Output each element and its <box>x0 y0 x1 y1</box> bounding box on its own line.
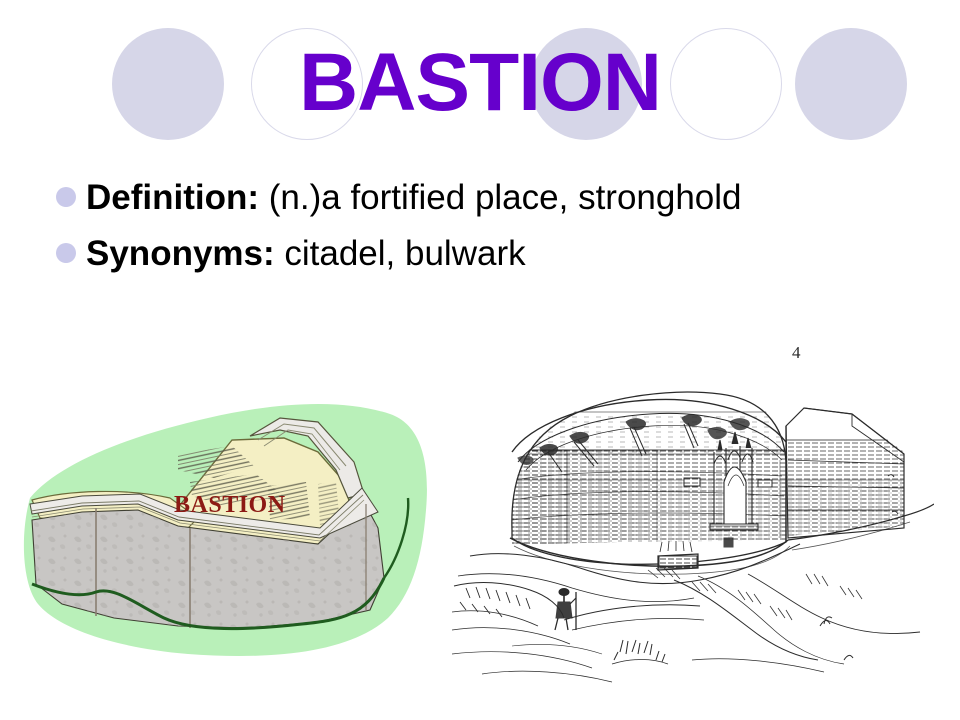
bullet-dot-icon <box>56 187 76 207</box>
bastion-wall-diagram-image: BASTION <box>18 378 438 660</box>
bullet-list: Definition: (n.)a fortified place, stron… <box>56 176 936 288</box>
diagram-caption: BASTION <box>174 492 286 518</box>
list-item-rest: citadel, bulwark <box>275 234 526 273</box>
list-item: Synonyms: citadel, bulwark <box>56 232 936 276</box>
list-item-lead: Definition: <box>86 178 259 217</box>
list-item-text: Synonyms: citadel, bulwark <box>86 232 526 276</box>
bullet-dot-icon <box>56 243 76 263</box>
list-item: Definition: (n.)a fortified place, stron… <box>56 176 936 220</box>
martello-tower-engraving-image: 4 <box>452 330 934 690</box>
figure-with-staff <box>555 589 576 631</box>
page-title: BASTION <box>0 40 960 126</box>
title-band: BASTION <box>0 0 960 160</box>
list-item-text: Definition: (n.)a fortified place, stron… <box>86 176 742 220</box>
plate-number: 4 <box>792 343 801 362</box>
list-item-rest: (n.)a fortified place, stronghold <box>259 178 741 217</box>
list-item-lead: Synonyms: <box>86 234 275 273</box>
